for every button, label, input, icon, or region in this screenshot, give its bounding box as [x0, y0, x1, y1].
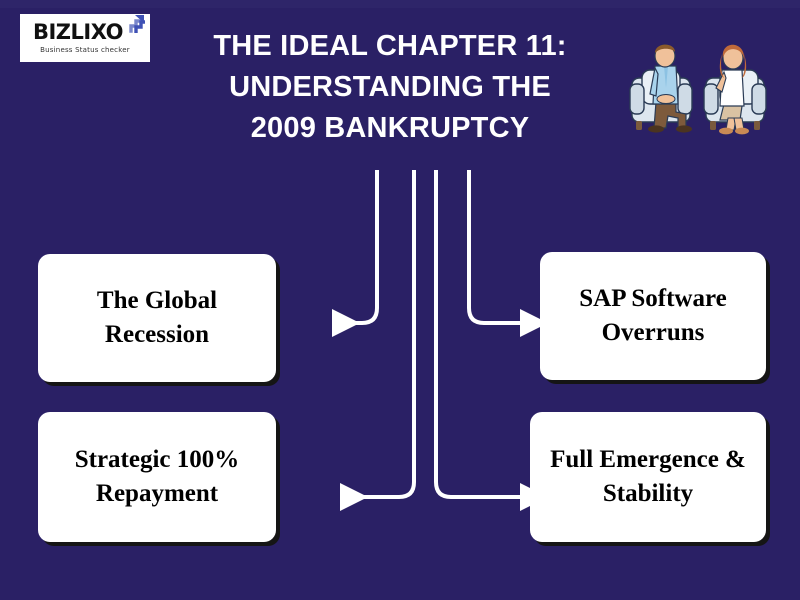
node-label: The Global Recession — [50, 284, 264, 353]
node-strategic-repayment[interactable]: Strategic 100% Repayment — [38, 412, 276, 542]
connector-to-global-recession — [336, 170, 377, 323]
title-line-1: THE IDEAL CHAPTER 11: — [168, 26, 612, 67]
node-full-emergence[interactable]: Full Emergence & Stability — [530, 412, 766, 542]
logo-wordmark-text: BIZLIXO — [33, 20, 123, 44]
title-line-2: UNDERSTANDING THE — [168, 67, 612, 108]
page-title: THE IDEAL CHAPTER 11: UNDERSTANDING THE … — [168, 26, 612, 150]
connector-to-sap-overruns — [469, 170, 524, 323]
double-chevron-up-right-icon — [123, 13, 145, 33]
logo-wordmark-container: BIZLIXO — [33, 22, 137, 43]
node-global-recession[interactable]: The Global Recession — [38, 254, 276, 382]
title-line-3: 2009 BANKRUPTCY — [168, 108, 612, 149]
infographic-canvas: BIZLIXO Business Status checker THE IDEA… — [0, 0, 800, 600]
two-people-conversation-illustration — [620, 32, 790, 150]
logo-tagline: Business Status checker — [40, 46, 130, 54]
connector-to-strategic-repayment — [344, 170, 414, 497]
node-sap-overruns[interactable]: SAP Software Overruns — [540, 252, 766, 380]
connector-to-full-emergence — [436, 170, 524, 497]
node-label: Full Emergence & Stability — [542, 443, 754, 512]
node-label: Strategic 100% Repayment — [50, 443, 264, 512]
brand-logo[interactable]: BIZLIXO Business Status checker — [20, 14, 150, 62]
node-label: SAP Software Overruns — [552, 282, 754, 351]
